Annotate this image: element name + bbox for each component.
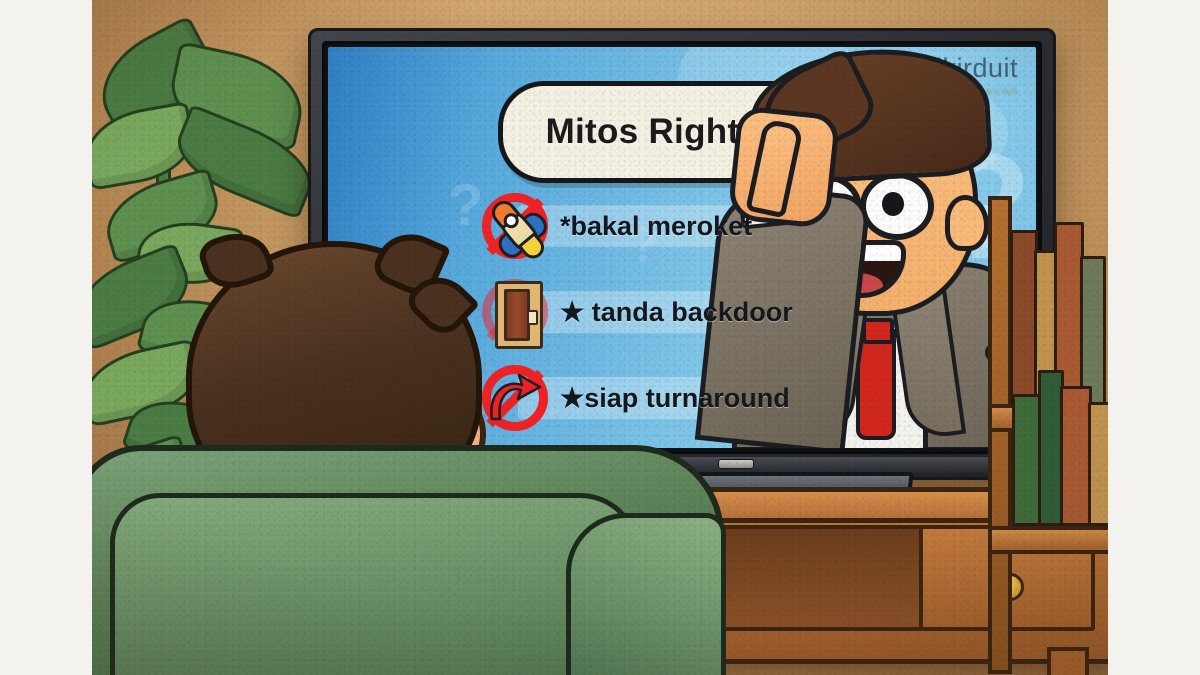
no-turnaround-icon: [478, 361, 552, 435]
tv-power-indicator: [718, 459, 754, 469]
illustration-artwork: ? ? ? ? ? Mikirduit mikir dulu baru duit…: [92, 0, 1108, 675]
no-rocket-icon: [478, 189, 552, 263]
letterbox-bar-left: [0, 0, 92, 675]
presenter-ear: [945, 195, 989, 251]
sofa: [92, 445, 724, 675]
letterbox-bar-right: [1108, 0, 1200, 675]
myth-label: *bakal meroket: [560, 211, 752, 242]
no-door-icon: [478, 275, 552, 349]
shelf-board: [988, 526, 1108, 554]
myth-label: ★ tanda backdoor: [560, 297, 793, 328]
book: [1088, 402, 1108, 526]
turnaround-arrow-icon: [486, 373, 544, 423]
presenter-glasses-right-lens: [860, 172, 934, 240]
myth-label: ★siap turnaround: [560, 383, 790, 414]
screenshot-canvas: ? ? ? ? ? Mikirduit mikir dulu baru duit…: [0, 0, 1200, 675]
sofa-armrest: [566, 513, 726, 675]
door-icon: [495, 281, 543, 349]
bookshelf: [988, 196, 1108, 666]
sofa-cushion: [110, 493, 640, 675]
